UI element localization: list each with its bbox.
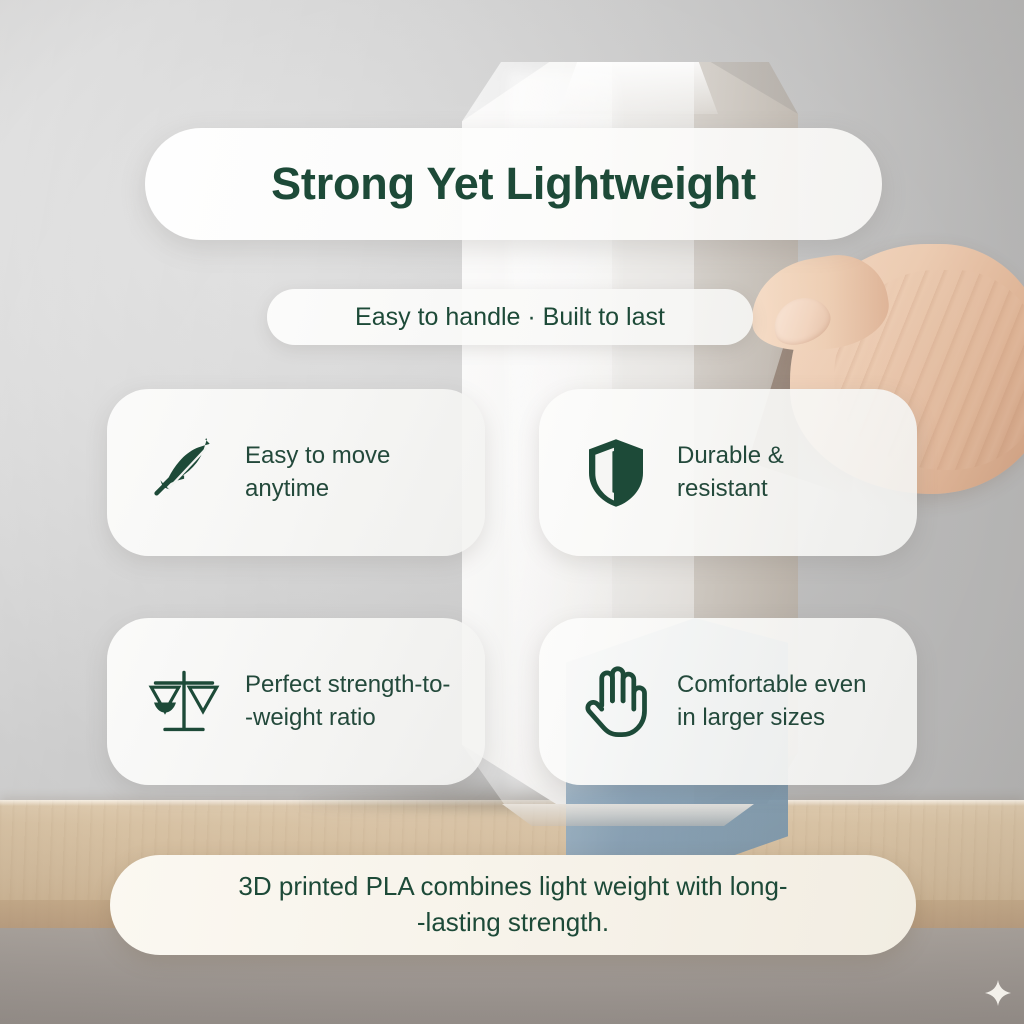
subtitle-banner: Easy to handle · Built to last	[267, 289, 753, 345]
footer-line2: -lasting strength.	[417, 907, 609, 937]
feature-label-line2: anytime	[245, 475, 329, 502]
footer-line1: 3D printed PLA combines light weight wit…	[238, 871, 787, 901]
feature-label-line1: Easy to move	[245, 442, 390, 469]
infographic-stage: Strong Yet Lightweight Easy to handle · …	[0, 0, 1024, 1024]
balance-scale-icon	[145, 663, 223, 741]
sparkle-icon	[985, 980, 1011, 1006]
overlay-layer: Strong Yet Lightweight Easy to handle · …	[0, 0, 1024, 1024]
title-banner: Strong Yet Lightweight	[145, 128, 882, 240]
feature-card-grid: Easy to move anytime Durable & resistant	[107, 389, 917, 785]
feature-card[interactable]: Perfect strength-to- -weight ratio	[107, 618, 485, 785]
feature-card[interactable]: Comfortable even in larger sizes	[539, 618, 917, 785]
feature-label-line1: Perfect strength-to-	[245, 671, 450, 698]
feather-icon	[145, 434, 223, 512]
feature-card-label: Perfect strength-to- -weight ratio	[245, 669, 450, 734]
feature-label-line1: Comfortable even	[677, 671, 866, 698]
feature-card-label: Durable & resistant	[677, 440, 784, 505]
feature-card-label: Comfortable even in larger sizes	[677, 669, 866, 734]
open-hand-icon	[577, 663, 655, 741]
page-title: Strong Yet Lightweight	[271, 158, 756, 210]
footer-text: 3D printed PLA combines light weight wit…	[198, 869, 827, 941]
page-subtitle: Easy to handle · Built to last	[355, 303, 665, 332]
feature-card[interactable]: Durable & resistant	[539, 389, 917, 556]
feature-label-line2: in larger sizes	[677, 704, 825, 731]
feature-card[interactable]: Easy to move anytime	[107, 389, 485, 556]
feature-label-line1: Durable &	[677, 442, 784, 469]
footer-banner: 3D printed PLA combines light weight wit…	[110, 855, 916, 955]
feature-card-label: Easy to move anytime	[245, 440, 390, 505]
feature-label-line2: -weight ratio	[245, 704, 376, 731]
feature-label-line2: resistant	[677, 475, 768, 502]
shield-icon	[577, 434, 655, 512]
